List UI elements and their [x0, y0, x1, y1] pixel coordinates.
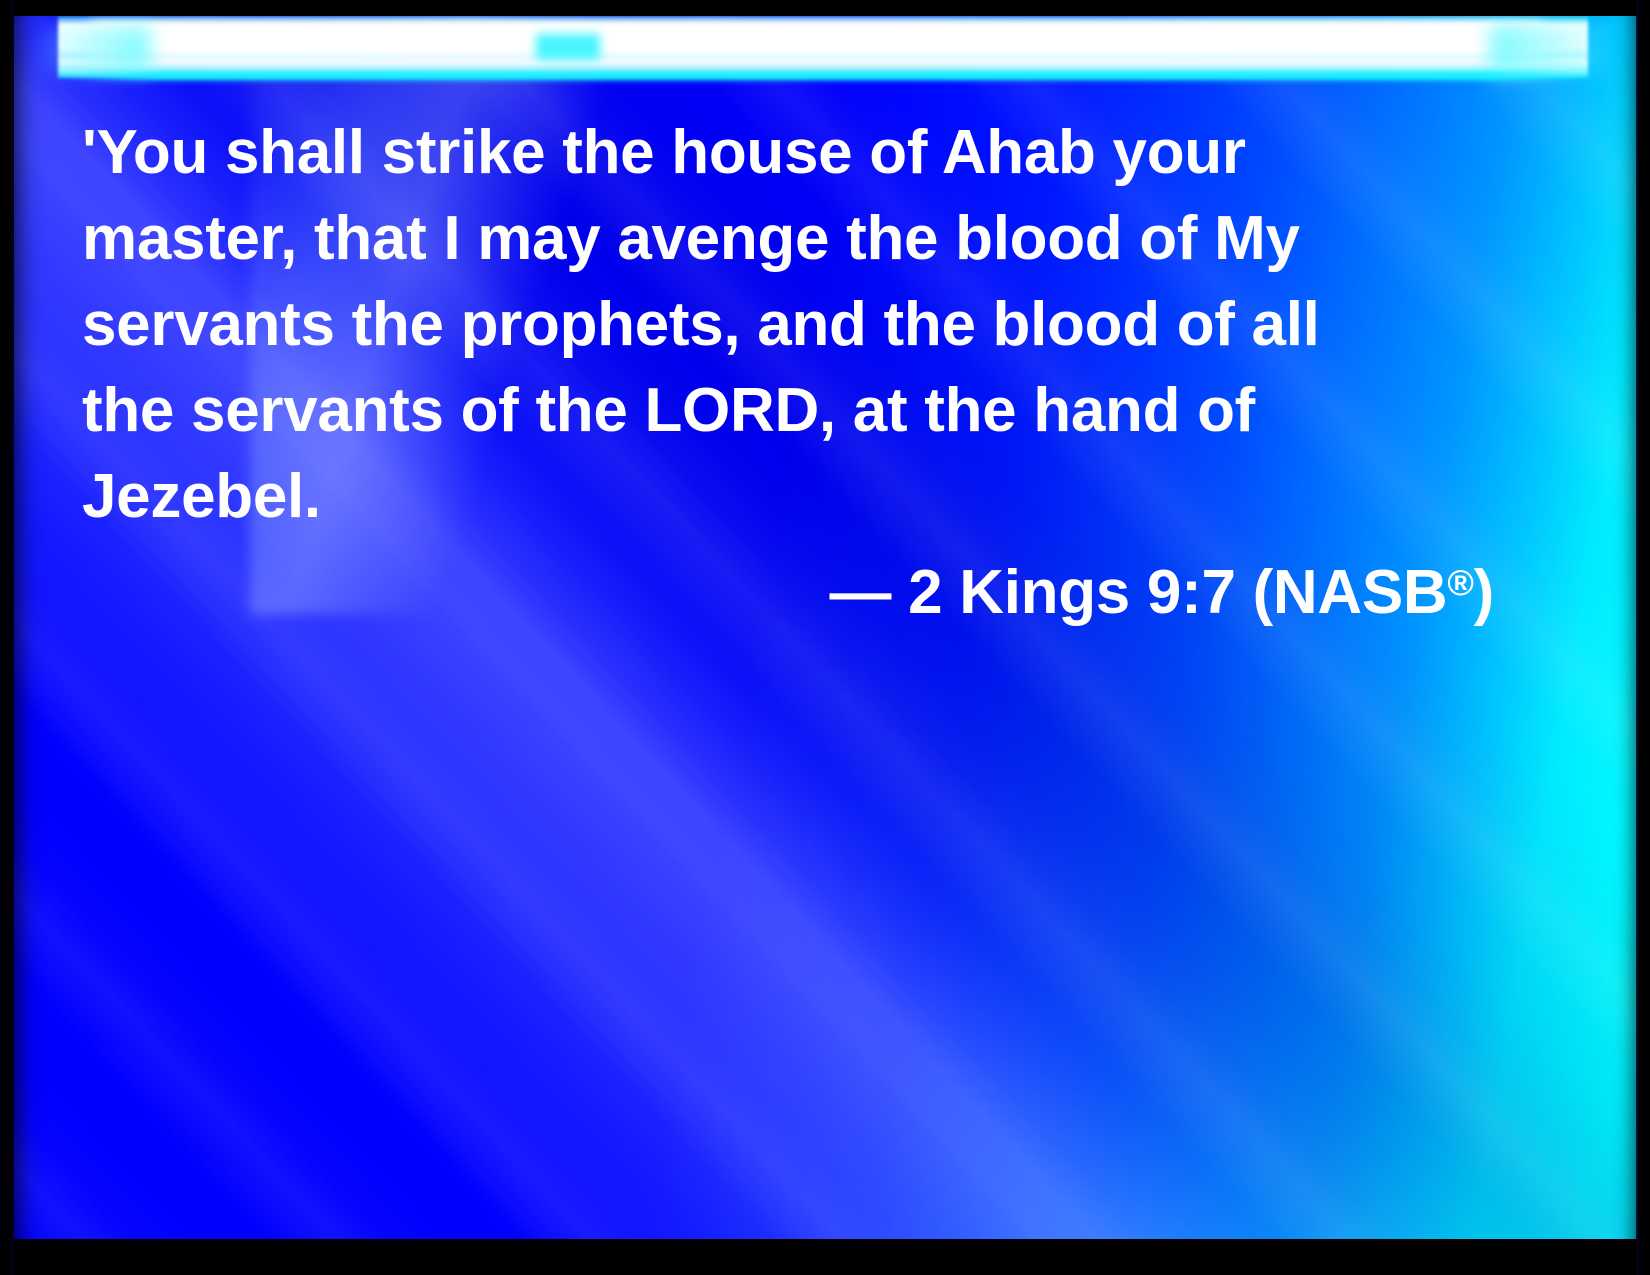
- attribution-open-paren: (: [1253, 558, 1273, 627]
- frame-right: [1636, 0, 1650, 1275]
- frame-left: [0, 0, 14, 1275]
- attribution-reference: 2 Kings 9:7: [908, 558, 1235, 627]
- top-glow-bar-right-tail: [1490, 24, 1620, 74]
- verse-line-1: 'You shall strike the house of Ahab your: [82, 110, 1502, 196]
- registered-trademark-icon: ®: [1447, 562, 1473, 603]
- top-glow-bar-left-tail: [30, 26, 150, 72]
- top-glow-bar-blob: [536, 34, 600, 60]
- verse-line-3: servants the prophets, and the blood of …: [82, 282, 1502, 368]
- frame-top: [0, 0, 1650, 16]
- top-glow-underline: [70, 72, 1582, 80]
- attribution-em-dash: —: [830, 558, 892, 627]
- verse-slide: 'You shall strike the house of Ahab your…: [0, 0, 1650, 1275]
- top-glow-bar: [58, 16, 1588, 78]
- top-glow-bar-core: [92, 22, 1542, 56]
- verse-line-2: master, that I may avenge the blood of M…: [82, 196, 1502, 282]
- verse-line-4: the servants of the LORD, at the hand of: [82, 368, 1502, 454]
- attribution-translation: NASB: [1273, 558, 1447, 627]
- verse-attribution: — 2 Kings 9:7 (NASB®): [82, 540, 1502, 636]
- attribution-close-paren: ): [1474, 558, 1494, 627]
- frame-bottom: [0, 1239, 1650, 1275]
- verse-block: 'You shall strike the house of Ahab your…: [82, 110, 1502, 636]
- verse-line-5: Jezebel.: [82, 454, 1502, 540]
